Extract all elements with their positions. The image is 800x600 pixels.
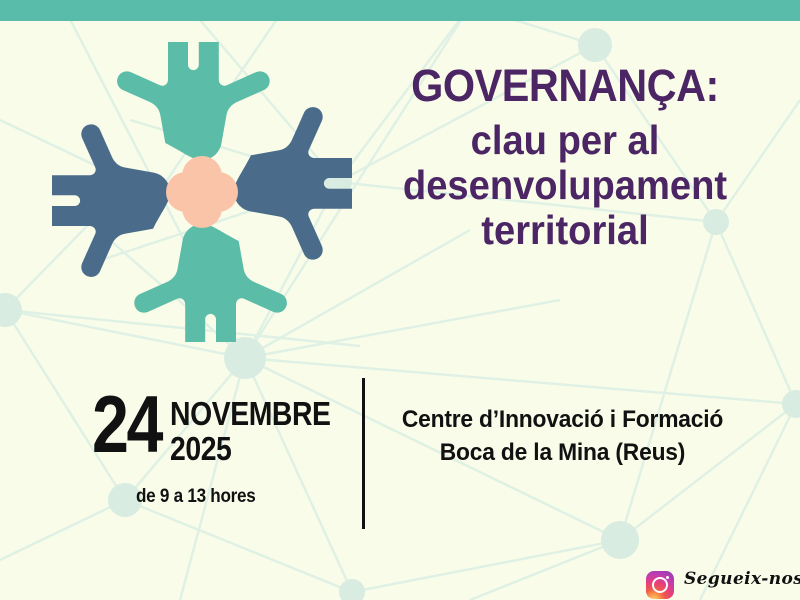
event-year-label: 2025 [170,430,331,468]
instagram-flash-dot [666,576,669,579]
instagram-icon[interactable] [646,571,674,599]
instagram-text-group: Segueix-nos! [684,571,800,589]
event-venue-block: Centre d’Innovació i Formació Boca de la… [385,403,740,469]
follow-us-label: Segueix-nos! [684,571,800,589]
header-accent-bar [0,0,800,21]
four-people-circle-illustration [52,42,352,342]
month-year-group: NOVEMBRE 2025 [170,392,357,468]
title-subtitle-line-1: clau per al [356,118,775,163]
poster-canvas: GOVERNANÇA: clau per al desenvolupament … [0,0,800,600]
event-time-label: de 9 a 13 hores [136,486,321,508]
vertical-divider [362,378,365,529]
instagram-lens-ring [652,577,668,593]
date-row: 24 NOVEMBRE 2025 [92,392,342,468]
instagram-follow-badge[interactable]: Segueix-nos! [646,571,800,599]
event-month-label: NOVEMBRE [170,397,331,430]
title-subtitle-line-3: territorial [356,208,775,253]
title-main: GOVERNANÇA: [358,62,772,110]
venue-line-2: Boca de la Mina (Reus) [394,436,731,469]
event-date-block: 24 NOVEMBRE 2025 de 9 a 13 hores [92,392,342,508]
title-subtitle-line-2: desenvolupament [356,163,775,208]
venue-line-1: Centre d’Innovació i Formació [394,403,731,436]
event-day-number: 24 [92,392,161,458]
poster-title-block: GOVERNANÇA: clau per al desenvolupament … [340,62,790,253]
title-subtitle: clau per al desenvolupament territorial [356,118,775,253]
